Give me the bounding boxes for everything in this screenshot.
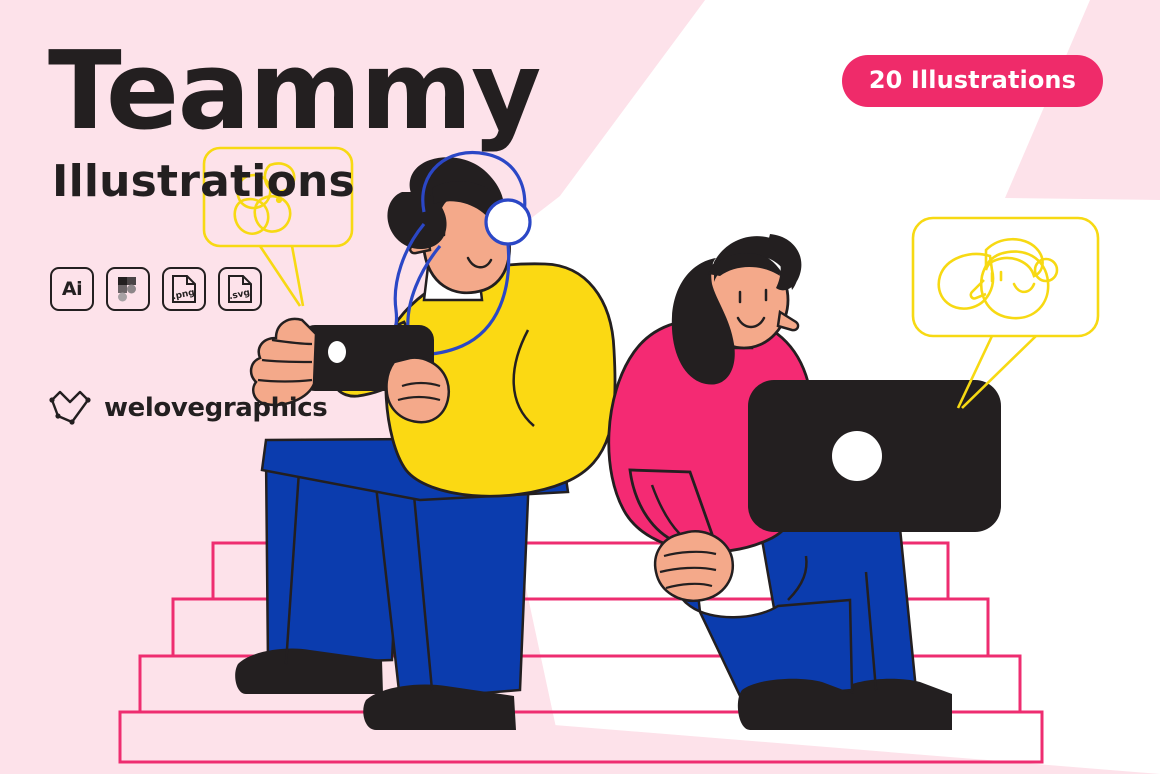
- ai-format-badge[interactable]: Ai: [50, 267, 94, 311]
- svg-text:.svg: .svg: [228, 288, 251, 302]
- brand-name: welovegraphics: [104, 393, 327, 423]
- svg-text:.png: .png: [171, 288, 195, 303]
- figma-icon: [117, 276, 139, 302]
- png-format-badge[interactable]: .png: [162, 267, 206, 311]
- welovegraphics-crown-icon: [48, 386, 92, 430]
- gamer-hand-right: [387, 358, 449, 422]
- figma-format-badge[interactable]: [106, 267, 150, 311]
- format-badge-group: Ai .png: [50, 267, 262, 311]
- worker-hand: [655, 531, 733, 601]
- laptop-camera-dot: [832, 431, 882, 481]
- ai-format-label: Ai: [62, 278, 82, 300]
- poster-canvas: Teammy Illustrations Ai: [0, 0, 1160, 774]
- svg-format-badge[interactable]: .svg: [218, 267, 262, 311]
- brand-lockup[interactable]: welovegraphics: [48, 386, 327, 430]
- file-png-icon: .png: [171, 274, 197, 304]
- page-subtitle: Illustrations: [52, 160, 355, 204]
- page-title: Teammy: [48, 38, 540, 146]
- file-svg-icon: .svg: [227, 274, 253, 304]
- illustration-count-badge: 20 Illustrations: [842, 55, 1103, 107]
- headphone-earcup: [486, 200, 530, 244]
- smartphone-camera-dot: [328, 341, 346, 363]
